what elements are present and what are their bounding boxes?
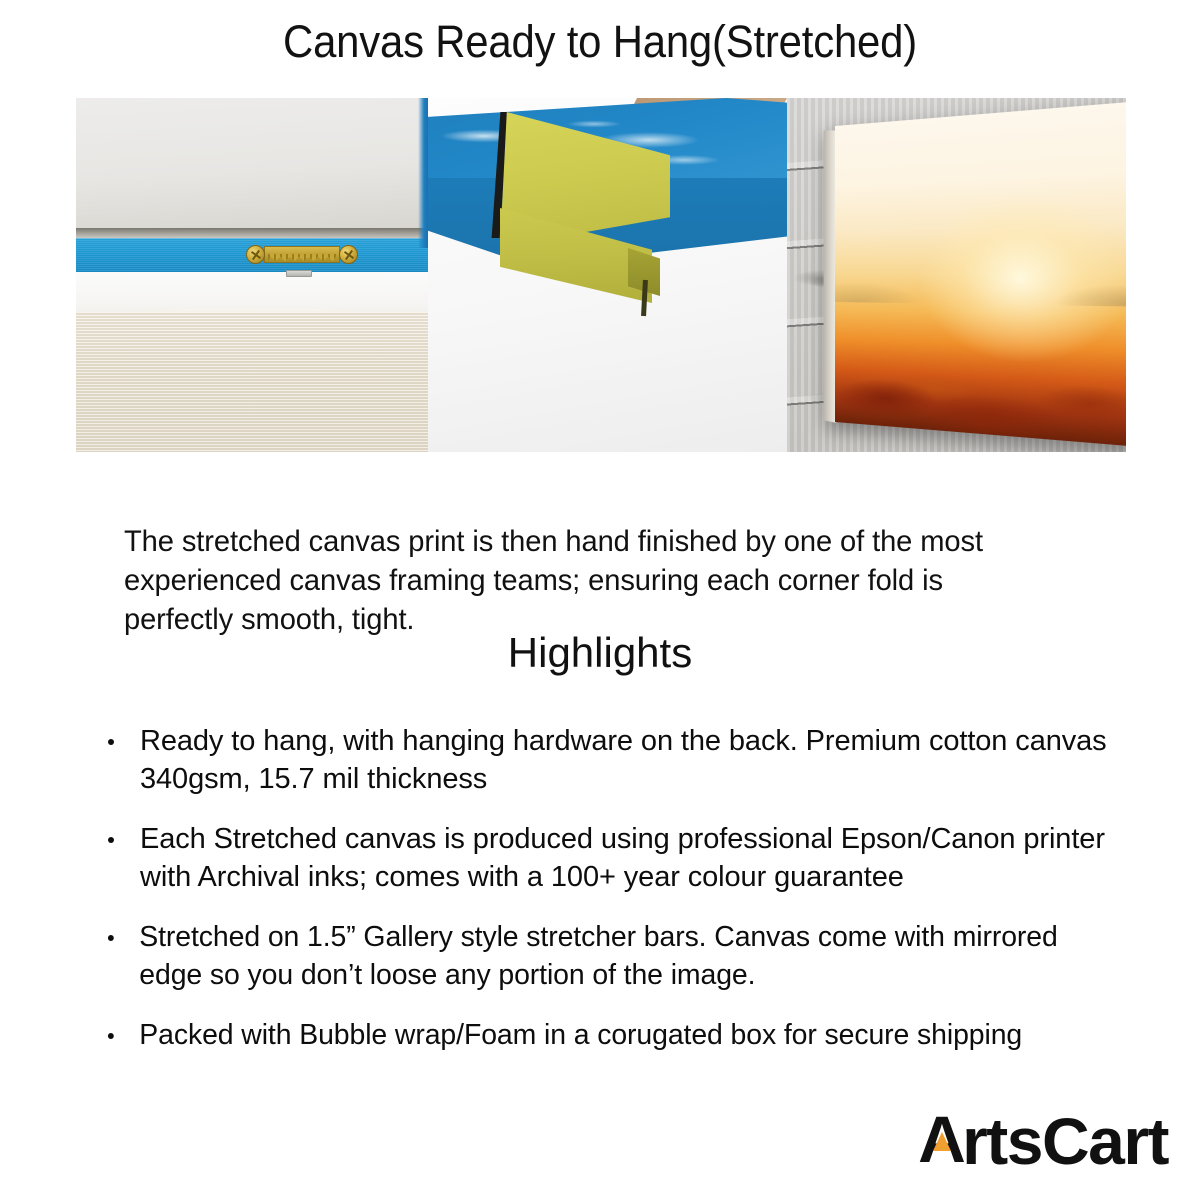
- list-item-label: Each Stretched canvas is produced using …: [140, 823, 1105, 893]
- bullet-icon: [108, 1033, 114, 1039]
- list-item: Ready to hang, with hanging hardware on …: [104, 722, 1124, 798]
- highlights-list: Ready to hang, with hanging hardware on …: [104, 722, 1124, 1076]
- hanger-screw-left: [246, 245, 265, 264]
- sawtooth-hanger-icon: [246, 243, 358, 267]
- list-item-label: Stretched on 1.5” Gallery style stretche…: [139, 921, 1057, 991]
- logo-triangle-icon: [933, 1132, 951, 1151]
- photo-corner-fold-closeup: [428, 98, 787, 452]
- photo-mounted-canvas-on-wall: [787, 98, 1126, 452]
- landscape-hills: [835, 253, 1126, 307]
- list-item-label: Packed with Bubble wrap/Foam in a coruga…: [139, 1019, 1022, 1051]
- brand-logo[interactable]: A rtsCart: [918, 1114, 1168, 1172]
- highlights-heading: Highlights: [0, 628, 1200, 678]
- list-item: Each Stretched canvas is produced using …: [104, 820, 1124, 896]
- photo-hanging-hardware-closeup: [76, 98, 428, 452]
- hanger-screw-right: [339, 245, 358, 264]
- mounted-canvas-artwork: [835, 100, 1126, 448]
- logo-wordmark: rtsCart: [962, 1116, 1168, 1166]
- intro-paragraph: The stretched canvas print is then hand …: [124, 522, 1055, 639]
- page-title: Canvas Ready to Hang(Stretched): [42, 16, 1158, 68]
- panel-right-blue-sliver: [418, 98, 428, 248]
- yellow-corner-crease: [641, 280, 648, 316]
- raw-canvas-surface: [76, 312, 428, 452]
- list-item: Packed with Bubble wrap/Foam in a coruga…: [104, 1016, 1104, 1054]
- list-item-label: Ready to hang, with hanging hardware on …: [140, 725, 1107, 795]
- list-item: Stretched on 1.5” Gallery style stretche…: [104, 918, 1104, 994]
- logo-letter-a: A: [918, 1114, 964, 1164]
- hanger-metal-tab: [286, 270, 312, 277]
- bullet-icon: [108, 837, 114, 843]
- product-photo-strip: [76, 98, 1126, 452]
- sunset-landscape-print: [835, 100, 1126, 448]
- bullet-icon: [108, 935, 114, 941]
- bullet-icon: [108, 739, 114, 745]
